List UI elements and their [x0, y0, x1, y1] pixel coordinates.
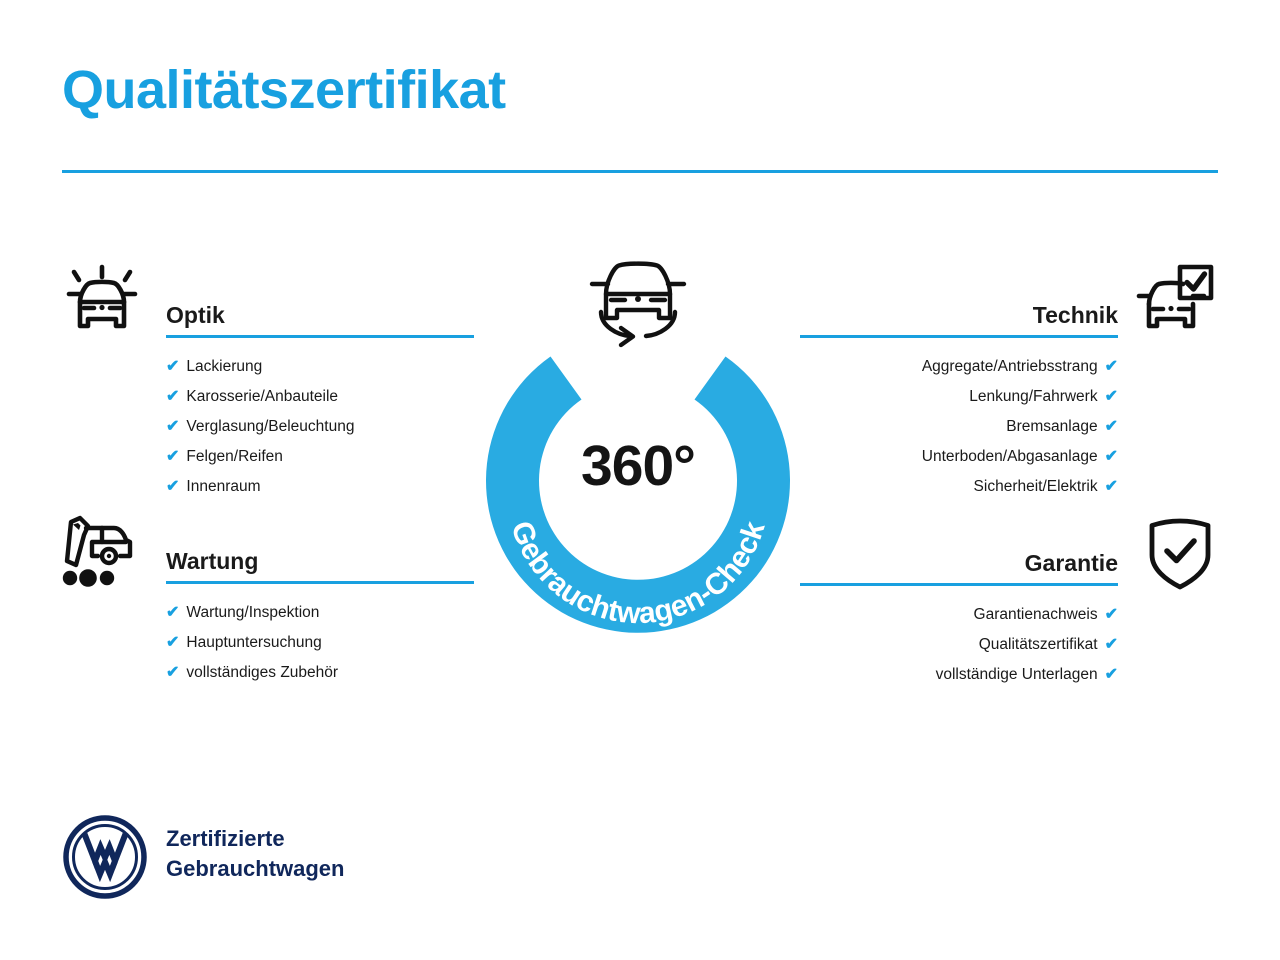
list-item: Lenkung/Fahrwerk✔: [800, 382, 1118, 412]
list-item: Garantienachweis✔: [800, 600, 1118, 630]
list-item-label: Felgen/Reifen: [186, 442, 283, 472]
car-front-shine-icon: [60, 258, 144, 342]
volkswagen-logo-icon: [62, 814, 148, 900]
title-divider: [62, 170, 1218, 173]
check-icon: ✔: [166, 628, 179, 658]
check-icon: ✔: [1105, 600, 1118, 630]
list-item: ✔Lackierung: [166, 352, 474, 382]
section-technik-divider: [800, 335, 1118, 338]
check-icon: ✔: [166, 472, 179, 502]
section-technik-title: Technik: [800, 300, 1118, 330]
section-technik-header: Technik: [800, 300, 1118, 338]
check-icon: ✔: [166, 412, 179, 442]
car-rotate-360-icon: [573, 250, 703, 360]
list-item-label: Lenkung/Fahrwerk: [969, 382, 1097, 412]
list-item: Bremsanlage✔: [800, 412, 1118, 442]
check-icon: ✔: [166, 382, 179, 412]
list-item-label: Qualitätszertifikat: [979, 630, 1098, 660]
list-item: ✔Innenraum: [166, 472, 474, 502]
list-item-label: Unterboden/Abgasanlage: [922, 442, 1098, 472]
section-garantie-header: Garantie: [800, 548, 1118, 586]
check-icon: ✔: [1105, 382, 1118, 412]
check-icon: ✔: [1105, 630, 1118, 660]
check-icon: ✔: [1105, 412, 1118, 442]
360-check-badge: Gebrauchtwagen-Check 360°: [455, 250, 821, 640]
check-icon: ✔: [166, 352, 179, 382]
list-item: vollständige Unterlagen✔: [800, 660, 1118, 690]
list-item-label: Lackierung: [186, 352, 262, 382]
list-item: ✔Karosserie/Anbauteile: [166, 382, 474, 412]
vw-lockup-line2: Gebrauchtwagen: [166, 854, 344, 884]
vw-certified-lockup: Zertifizierte Gebrauchtwagen: [62, 812, 482, 904]
section-wartung-header: Wartung: [166, 546, 474, 584]
section-wartung: Wartung ✔Wartung/Inspektion ✔Hauptunters…: [166, 546, 474, 688]
list-item: ✔vollständiges Zubehör: [166, 658, 474, 688]
section-garantie-title: Garantie: [800, 548, 1118, 578]
list-item-label: Garantienachweis: [974, 600, 1098, 630]
check-icon: ✔: [1105, 442, 1118, 472]
section-wartung-divider: [166, 581, 474, 584]
list-item: Sicherheit/Elektrik✔: [800, 472, 1118, 502]
check-icon: ✔: [166, 658, 179, 688]
badge-center-label: 360°: [455, 438, 821, 495]
check-icon: ✔: [1105, 472, 1118, 502]
check-icon: ✔: [1105, 352, 1118, 382]
quality-certificate-page: Qualitätszertifikat Optik ✔Lackierung ✔K…: [0, 0, 1280, 960]
wrench-car-service-icon: [58, 508, 142, 592]
section-optik: Optik ✔Lackierung ✔Karosserie/Anbauteile…: [166, 300, 474, 502]
shield-check-icon: [1138, 512, 1222, 596]
section-wartung-list: ✔Wartung/Inspektion ✔Hauptuntersuchung ✔…: [166, 598, 474, 688]
list-item-label: vollständiges Zubehör: [186, 658, 338, 688]
list-item: ✔Felgen/Reifen: [166, 442, 474, 472]
page-title: Qualitätszertifikat: [62, 62, 506, 119]
list-item-label: Wartung/Inspektion: [186, 598, 319, 628]
section-optik-list: ✔Lackierung ✔Karosserie/Anbauteile ✔Verg…: [166, 352, 474, 502]
list-item-label: Karosserie/Anbauteile: [186, 382, 338, 412]
section-optik-header: Optik: [166, 300, 474, 338]
list-item: Qualitätszertifikat✔: [800, 630, 1118, 660]
section-wartung-title: Wartung: [166, 546, 474, 576]
section-technik-list: Aggregate/Antriebsstrang✔ Lenkung/Fahrwe…: [800, 352, 1118, 502]
list-item: ✔Verglasung/Beleuchtung: [166, 412, 474, 442]
check-icon: ✔: [166, 442, 179, 472]
list-item-label: Verglasung/Beleuchtung: [186, 412, 354, 442]
check-icon: ✔: [166, 598, 179, 628]
list-item-label: vollständige Unterlagen: [936, 660, 1098, 690]
list-item-label: Bremsanlage: [1006, 412, 1097, 442]
section-garantie: Garantie Garantienachweis✔ Qualitätszert…: [800, 548, 1118, 690]
vw-lockup-line1: Zertifizierte: [166, 824, 344, 854]
check-icon: ✔: [1105, 660, 1118, 690]
section-garantie-divider: [800, 583, 1118, 586]
list-item-label: Innenraum: [186, 472, 260, 502]
list-item: ✔Wartung/Inspektion: [166, 598, 474, 628]
section-technik: Technik Aggregate/Antriebsstrang✔ Lenkun…: [800, 300, 1118, 502]
list-item-label: Hauptuntersuchung: [186, 628, 321, 658]
list-item: ✔Hauptuntersuchung: [166, 628, 474, 658]
section-optik-divider: [166, 335, 474, 338]
section-optik-title: Optik: [166, 300, 474, 330]
section-garantie-list: Garantienachweis✔ Qualitätszertifikat✔ v…: [800, 600, 1118, 690]
list-item-label: Aggregate/Antriebsstrang: [922, 352, 1098, 382]
car-checkbox-icon: [1133, 258, 1217, 342]
list-item: Unterboden/Abgasanlage✔: [800, 442, 1118, 472]
list-item: Aggregate/Antriebsstrang✔: [800, 352, 1118, 382]
vw-lockup-text: Zertifizierte Gebrauchtwagen: [166, 824, 344, 884]
list-item-label: Sicherheit/Elektrik: [974, 472, 1098, 502]
